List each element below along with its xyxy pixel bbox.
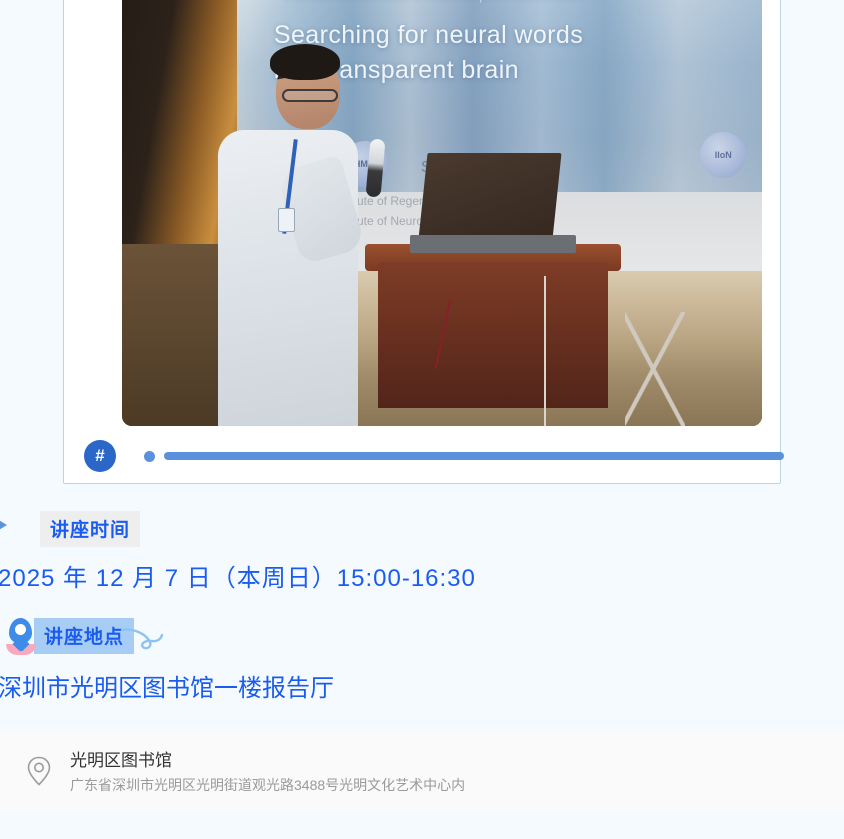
slide-title-line-2: in a transparent brain: [274, 53, 746, 89]
name-badge: [278, 208, 295, 232]
article-photo-card: International Conference on Neuromorphic…: [63, 0, 781, 484]
photo-scene: International Conference on Neuromorphic…: [122, 0, 762, 426]
laptop-screen: [418, 153, 561, 239]
lecture-photo[interactable]: International Conference on Neuromorphic…: [122, 0, 762, 426]
play-arrow-icon: [0, 517, 7, 533]
laptop-base: [410, 235, 576, 253]
location-address: 广东省深圳市光明区光明街道观光路3488号光明文化艺术中心内: [70, 775, 465, 795]
lecture-time-tag-row: 讲座时间: [0, 505, 844, 545]
lecture-place-section: 讲座地点 深圳市光明区图书馆一楼报告厅: [0, 612, 844, 652]
slider-handle[interactable]: [144, 451, 155, 462]
swirl-decor-icon: [120, 626, 164, 652]
progress-slider-track[interactable]: [164, 452, 784, 460]
speaker-hair: [270, 44, 340, 80]
lecture-time-section: 讲座时间 2025 年 12 月 7 日（本周日）15:00-16:30: [0, 505, 844, 545]
slide-conference-header: International Conference on Neuromorphic…: [284, 0, 735, 3]
institution-logo-right-icon: IIoN: [700, 132, 746, 178]
slide-title-line-1: Searching for neural words: [274, 18, 746, 54]
photo-toolbar: #: [84, 440, 774, 472]
mic-stand: [544, 276, 546, 426]
map-pin-decor-icon: [6, 618, 36, 652]
lecture-place-value: 深圳市光明区图书馆一楼报告厅: [0, 668, 334, 703]
glasses-icon: [282, 89, 338, 102]
location-pin-icon: [26, 756, 52, 786]
hash-badge-button[interactable]: #: [84, 440, 116, 472]
tripod-stand: [625, 312, 685, 426]
lecture-place-tag: 讲座地点: [34, 618, 134, 654]
podium: [378, 262, 608, 408]
lecture-time-value: 2025 年 12 月 7 日（本周日）15:00-16:30: [0, 558, 476, 593]
lecture-time-tag: 讲座时间: [40, 511, 140, 547]
location-name: 光明区图书馆: [70, 746, 172, 771]
location-card[interactable]: 光明区图书馆 广东省深圳市光明区光明街道观光路3488号光明文化艺术中心内: [0, 733, 844, 810]
lecture-place-tag-row: 讲座地点: [0, 612, 844, 652]
slide-title: Searching for neural words in a transpar…: [274, 18, 746, 89]
